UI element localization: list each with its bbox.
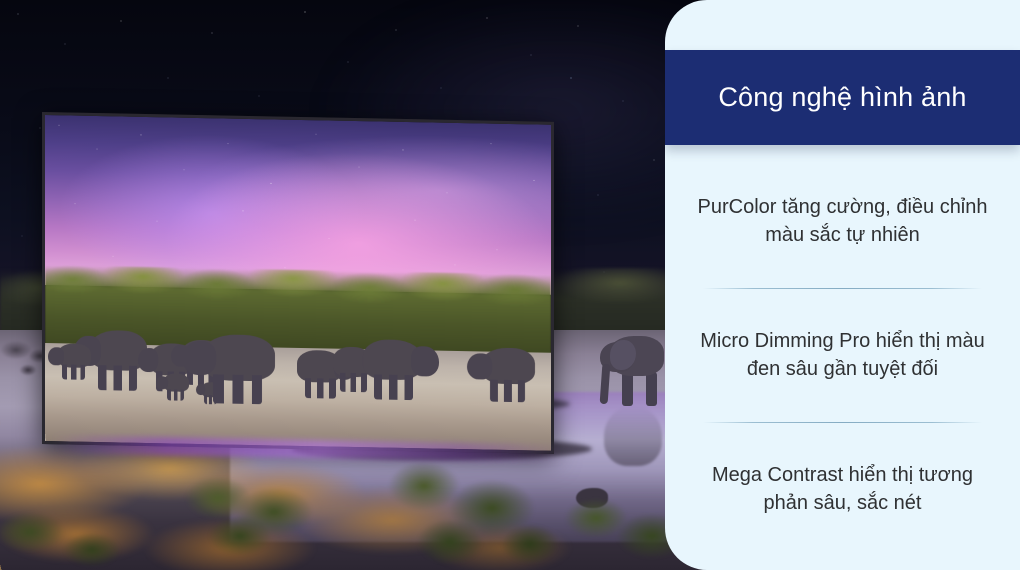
- feature-list: PurColor tăng cường, điều chỉnh màu sắc …: [665, 145, 1020, 517]
- page-title: Công nghệ hình ảnh: [718, 81, 966, 113]
- elephant-trunk: [600, 364, 611, 404]
- foreground-bush: [372, 452, 562, 570]
- elephant-leg: [622, 372, 633, 406]
- elephant-herd-left: [0, 336, 52, 392]
- elephant-leg: [646, 372, 657, 406]
- feature-item-mega-contrast: Mega Contrast hiển thị tương phản sâu, s…: [691, 461, 994, 518]
- feature-item-purcolor: PurColor tăng cường, điều chỉnh màu sắc …: [691, 193, 994, 250]
- feature-divider: [703, 422, 982, 423]
- info-panel: Công nghệ hình ảnh PurColor tăng cường, …: [665, 0, 1020, 570]
- feature-item-micro-dimming: Micro Dimming Pro hiển thị màu đen sâu g…: [691, 327, 994, 384]
- foreground-bush: [0, 498, 130, 570]
- panel-header: Công nghệ hình ảnh: [665, 50, 1020, 145]
- elephant-drinking: [600, 330, 666, 408]
- promo-banner: Công nghệ hình ảnh PurColor tăng cường, …: [0, 0, 1020, 570]
- feature-divider: [703, 288, 982, 289]
- foreground-bush: [178, 470, 328, 570]
